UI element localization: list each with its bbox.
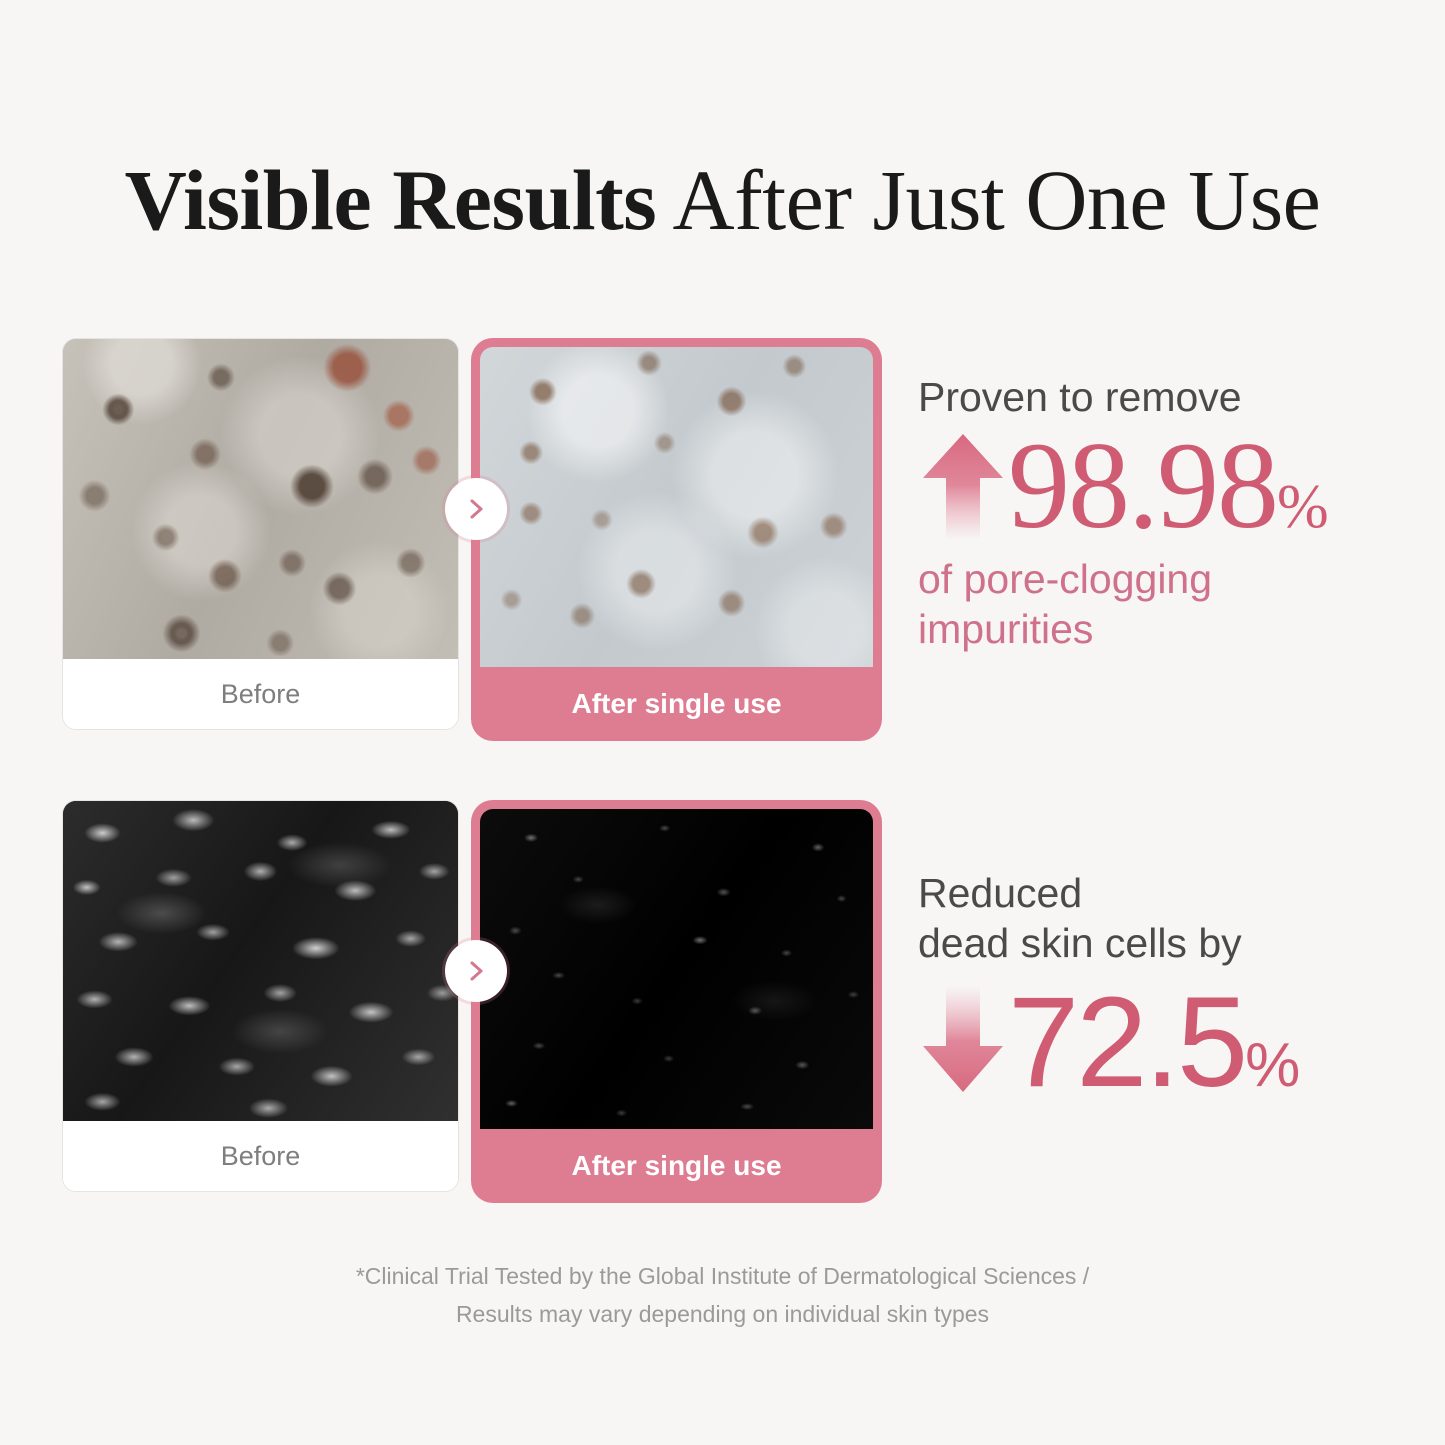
before-card: Before <box>62 800 459 1192</box>
stat-value-percent: % <box>1277 473 1328 541</box>
after-skin-photo <box>480 347 873 667</box>
arrow-down-icon <box>918 984 1008 1096</box>
arrow-up-icon <box>918 428 1008 540</box>
before-after-pair: Before After single use <box>62 800 882 1203</box>
comparison-row-dead-skin: Before After single use <box>62 800 882 1203</box>
stat-block-impurities: Proven to remove 98.98% of pore-clogging… <box>918 372 1328 654</box>
chevron-right-icon <box>445 478 507 540</box>
stat-sub-line-1: of pore-clogging <box>918 554 1328 604</box>
after-skin-photo <box>480 809 873 1129</box>
chevron-right-icon <box>445 940 507 1002</box>
stat-block-dead-skin: Reduced dead skin cells by 72.5% <box>918 868 1299 1096</box>
after-label: After single use <box>480 667 873 741</box>
before-skin-photo <box>63 339 458 659</box>
after-card: After single use <box>471 800 882 1203</box>
footnote: *Clinical Trial Tested by the Global Ins… <box>0 1258 1445 1334</box>
after-card: After single use <box>471 338 882 741</box>
comparison-row-pores: Before After single use <box>62 338 882 741</box>
after-label: After single use <box>480 1129 873 1203</box>
footnote-line-2: Results may vary depending on individual… <box>0 1296 1445 1334</box>
page-title-light: After Just One Use <box>656 152 1320 248</box>
footnote-line-1: *Clinical Trial Tested by the Global Ins… <box>0 1258 1445 1296</box>
stat-lead-line-2: dead skin cells by <box>918 918 1299 968</box>
before-label: Before <box>63 1121 458 1191</box>
stat-value-percent: % <box>1245 1031 1299 1100</box>
before-skin-photo <box>63 801 458 1121</box>
stat-value: 72.5% <box>1008 989 1299 1097</box>
stat-number-row: 98.98% <box>918 428 1328 540</box>
page-title: Visible Results After Just One Use <box>0 155 1445 245</box>
before-after-pair: Before After single use <box>62 338 882 741</box>
stat-number-row: 72.5% <box>918 984 1299 1096</box>
stat-lead-text: Proven to remove <box>918 372 1328 422</box>
stat-value-number: 98.98 <box>1008 417 1277 554</box>
stat-value-number: 72.5 <box>1008 971 1245 1114</box>
stat-lead-line-1: Reduced <box>918 868 1299 918</box>
stat-value: 98.98% <box>1008 433 1328 540</box>
page-title-strong: Visible Results <box>125 152 657 248</box>
stat-sub-line-2: impurities <box>918 604 1328 654</box>
before-label: Before <box>63 659 458 729</box>
before-card: Before <box>62 338 459 730</box>
